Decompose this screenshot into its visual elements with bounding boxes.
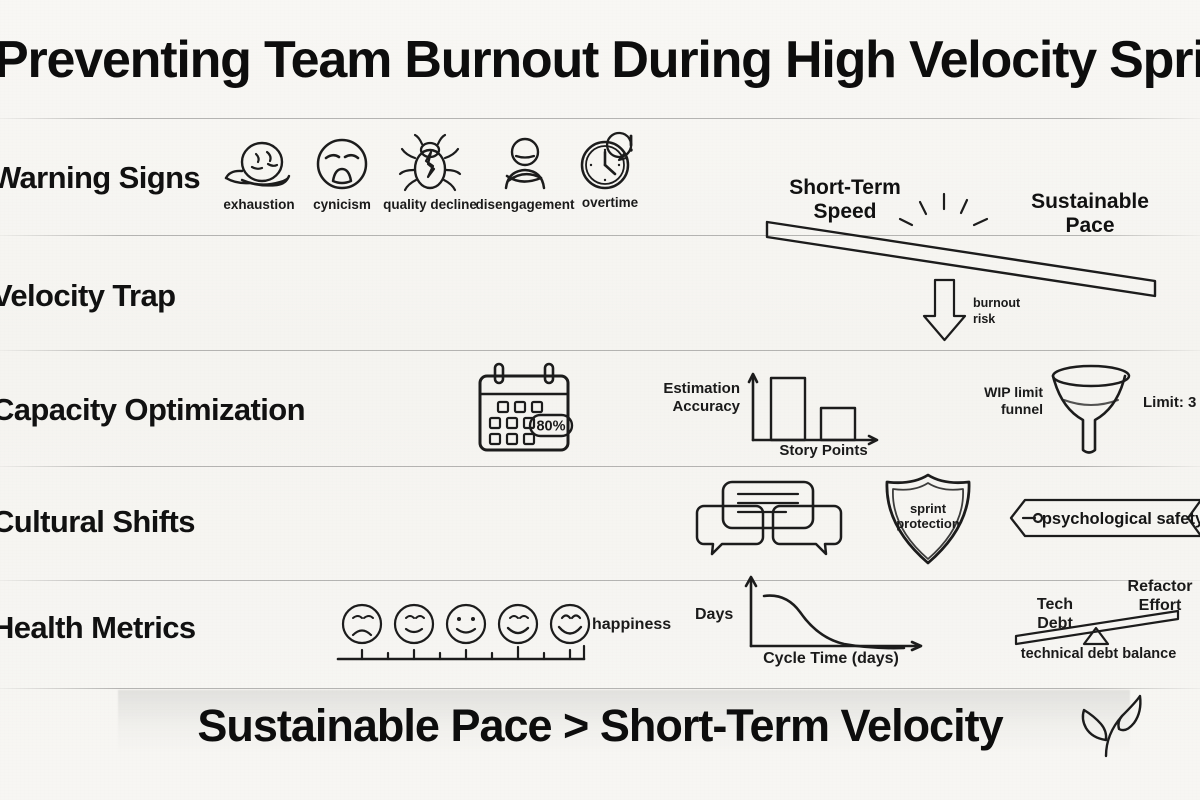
wip-limit-funnel: WIP limit funnel Limit: 3 Ta bbox=[965, 362, 1200, 462]
calendar-capacity-icon: 80% bbox=[468, 360, 583, 460]
cycle-time-curve bbox=[764, 596, 904, 649]
happiness-caption: happiness bbox=[592, 616, 671, 634]
warning-icon-quality-decline: quality decline bbox=[378, 132, 482, 212]
row-label-cultural-shifts: Cultural Shifts bbox=[0, 504, 195, 540]
velocity-tradeoff-seesaw: Short-Term Speed Sustainable Pace bbox=[745, 168, 1200, 343]
bar-2 bbox=[821, 408, 855, 440]
funnel-label: WIP limit funnel bbox=[965, 384, 1043, 418]
icon-caption: disengagement bbox=[471, 197, 579, 212]
estimation-accuracy-bar-chart: Estimation Accuracy Story Points bbox=[648, 368, 893, 463]
speech-bubbles-icon bbox=[700, 478, 850, 558]
icon-caption: overtime bbox=[572, 195, 648, 210]
bar-chart-x-axis-label: Story Points bbox=[756, 442, 891, 459]
technical-debt-balance: Tech Debt Refactor Effort technical debt… bbox=[1000, 578, 1200, 673]
row-label-health-metrics: Health Metrics bbox=[0, 610, 196, 646]
seesaw-left-label: Short-Term Speed bbox=[765, 176, 925, 223]
icon-caption: quality decline bbox=[378, 197, 482, 212]
sprint-protection-shield: sprint protection bbox=[882, 472, 977, 567]
row-divider bbox=[0, 350, 1200, 351]
cycle-time-line-chart: Days Cycle Time (days) bbox=[695, 568, 945, 673]
seesaw-right-label: Sustainable Pace bbox=[1005, 190, 1175, 237]
icon-caption: exhaustion bbox=[217, 197, 301, 212]
bar-chart-y-axis-label: Estimation Accuracy bbox=[648, 380, 740, 416]
row-divider bbox=[0, 688, 1200, 689]
warning-icon-cynicism: cynicism bbox=[303, 132, 381, 212]
shield-label-line1: sprint bbox=[910, 501, 947, 516]
cycle-chart-x-axis-label: Cycle Time (days) bbox=[731, 650, 931, 668]
calendar-capacity-badge: 80% bbox=[536, 419, 565, 435]
bar-1 bbox=[771, 378, 805, 440]
row-label-warning-signs: Warning Signs bbox=[0, 160, 200, 196]
page-title: Preventing Team Burnout During High Velo… bbox=[0, 34, 1200, 86]
exhausted-face-icon bbox=[217, 132, 301, 194]
warning-icon-disengagement: disengagement bbox=[471, 132, 579, 212]
cycle-chart-y-axis-label: Days bbox=[695, 606, 733, 624]
row-divider bbox=[0, 118, 1200, 119]
row-divider bbox=[0, 466, 1200, 467]
psychological-safety-banner: psychological safety bbox=[1005, 498, 1200, 538]
funnel-limit-text: Limit: 3 Ta bbox=[1143, 394, 1200, 411]
shield-label-line2: protection bbox=[896, 516, 960, 531]
leaf-sprout-icon bbox=[1072, 694, 1142, 760]
debt-balance-caption: technical debt balance bbox=[996, 646, 1200, 662]
crossed-arms-person-icon bbox=[471, 132, 579, 194]
happiness-scale: happiness bbox=[336, 602, 666, 672]
cracked-bug-icon bbox=[378, 132, 482, 194]
icon-caption: cynicism bbox=[303, 197, 381, 212]
row-label-capacity-optimization: Capacity Optimization bbox=[0, 392, 305, 428]
banner-text: psychological safety bbox=[1042, 510, 1200, 528]
row-label-velocity-trap: Velocity Trap bbox=[0, 278, 175, 314]
warning-icon-exhaustion: exhaustion bbox=[217, 132, 301, 212]
burnout-risk-label: burnout risk bbox=[973, 296, 1020, 327]
footer-tagline: Sustainable Pace > Short-Term Velocity bbox=[0, 700, 1200, 752]
warning-icon-overtime: overtime bbox=[572, 130, 648, 210]
frowning-face-icon bbox=[303, 132, 381, 194]
clock-alert-icon bbox=[572, 130, 648, 192]
